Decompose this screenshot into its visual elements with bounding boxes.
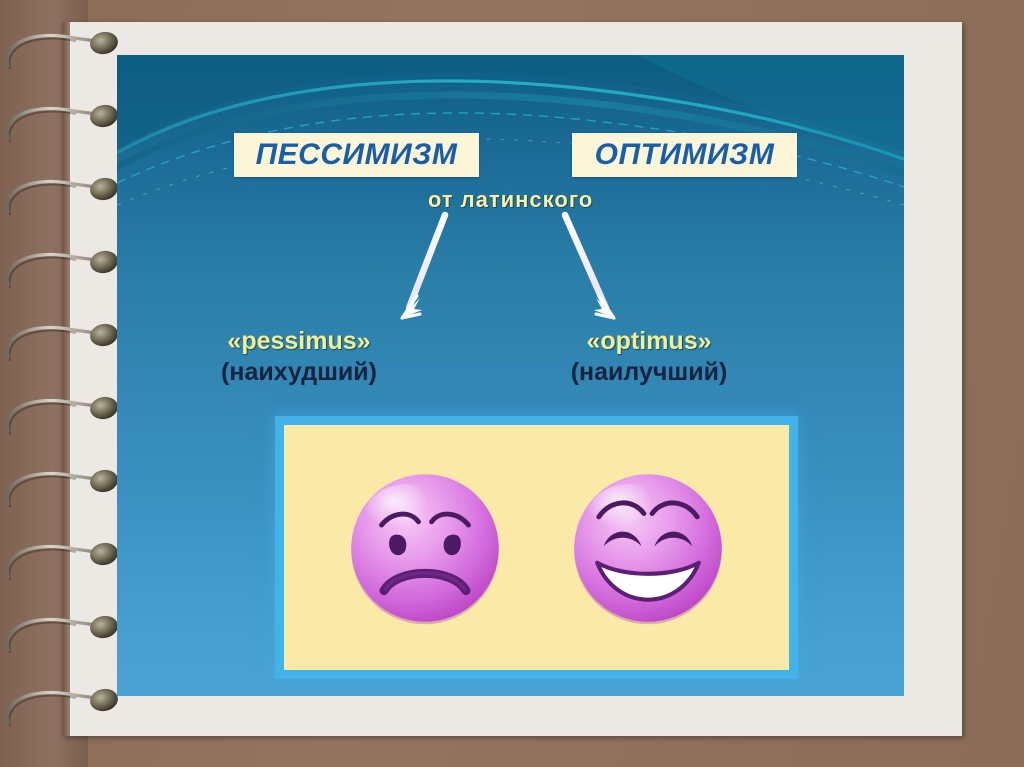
presentation-slide: ПЕССИМИЗМ ОПТИМИЗМ от латинского: [117, 55, 904, 696]
sad-face-icon: [343, 466, 507, 630]
faces-panel: [284, 425, 789, 670]
heading-box-pessimism: ПЕССИМИЗМ: [234, 133, 479, 177]
term-optimus: «optimus» (наилучший): [499, 327, 799, 387]
slide-notebook-scene: ПЕССИМИЗМ ОПТИМИЗМ от латинского: [0, 0, 1024, 767]
term-translation-pessimus: (наихудший): [149, 358, 449, 387]
heading-label-optimism: ОПТИМИЗМ: [595, 138, 775, 172]
arrow-down-right-icon: [565, 215, 614, 318]
arrow-down-left-icon: [402, 215, 445, 318]
faces-row: [284, 425, 789, 670]
arrows-group: [117, 210, 904, 325]
term-latin-pessimus: «pessimus»: [149, 327, 449, 356]
heading-label-pessimism: ПЕССИМИЗМ: [256, 138, 458, 172]
notebook-page-edge: [62, 22, 70, 736]
heading-box-optimism: ОПТИМИЗМ: [572, 133, 797, 177]
term-pessimus: «pessimus» (наихудший): [149, 327, 449, 387]
term-latin-optimus: «optimus»: [499, 327, 799, 356]
term-translation-optimus: (наилучший): [499, 358, 799, 387]
happy-face-icon: [566, 466, 730, 630]
